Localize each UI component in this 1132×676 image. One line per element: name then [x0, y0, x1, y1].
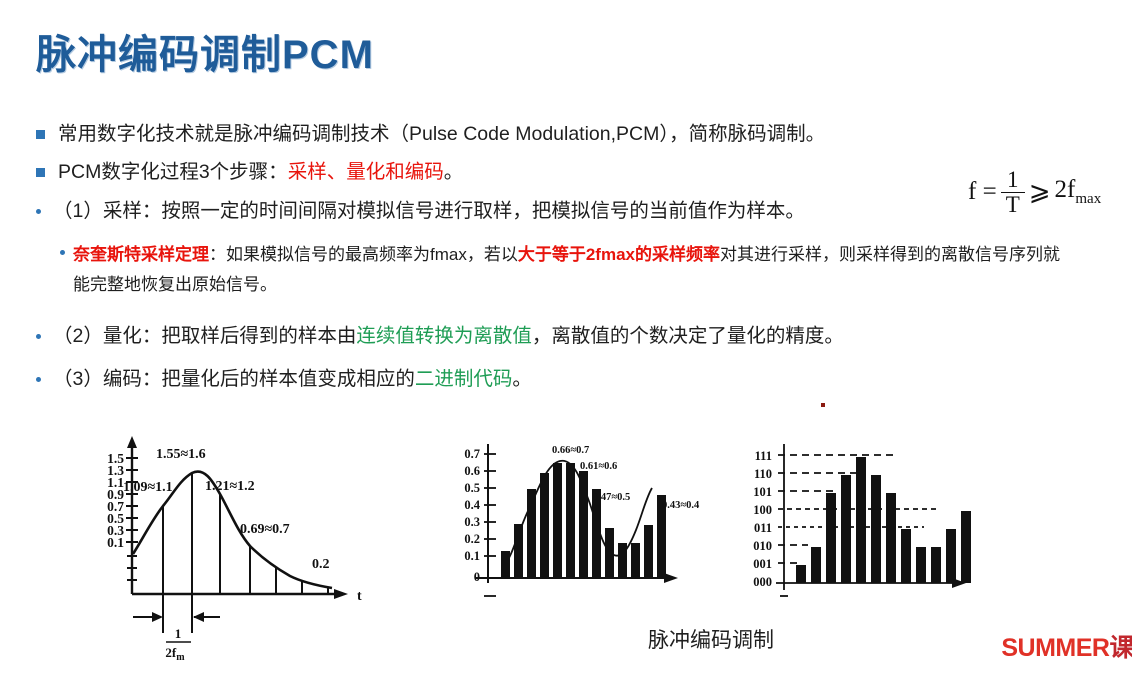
sample-annotations: 1.09≈1.1 1.55≈1.6 1.21≈1.2 0.69≈0.7 0.2: [123, 447, 330, 572]
bar: [605, 528, 614, 578]
bar: [501, 551, 510, 578]
bar: [644, 525, 653, 578]
y-tick-label: 110: [754, 467, 772, 481]
bar: [901, 529, 911, 583]
bullet-row-1: 常用数字化技术就是脉冲编码调制技术（Pulse Code Modulation,…: [36, 120, 825, 148]
bar-label: 0.66≈0.7: [552, 445, 589, 456]
bullet-row-3: （1）采样：按照一定的时间间隔对模拟信号进行取样，把模拟信号的当前值作为样本。: [36, 197, 805, 225]
y-tick-label: 100: [753, 503, 772, 517]
bullet-6-text: （3）编码：把量化后的样本值变成相应的二进制代码。: [53, 365, 532, 393]
y-tick-labels: 111 110 101 100 011 010 001 000: [753, 449, 772, 589]
y-tick-label: 101: [753, 485, 772, 499]
page-title: 脉冲编码调制PCM: [36, 22, 374, 80]
svg-text:1: 1: [175, 626, 182, 641]
bullet-2-text: PCM数字化过程3个步骤：采样、量化和编码。: [58, 158, 463, 186]
square-bullet-icon: [36, 168, 45, 177]
sample-label: 1.09≈1.1: [123, 480, 173, 495]
square-bullet-icon: [36, 130, 45, 139]
y-tick-label: 010: [753, 539, 772, 553]
y-tick-label: 0: [474, 570, 480, 584]
bar: [946, 529, 956, 583]
y-tick-label: 0.6: [464, 464, 480, 478]
bar: [961, 511, 971, 583]
bar: [856, 457, 866, 583]
bullet-3-text: （1）采样：按照一定的时间间隔对模拟信号进行取样，把模拟信号的当前值作为样本。: [53, 197, 805, 225]
encoded-bars: [796, 457, 971, 583]
bar-label: 0.61≈0.6: [580, 461, 617, 472]
sample-label: 0.2: [312, 557, 330, 572]
bar: [886, 493, 896, 583]
bar: [796, 565, 806, 583]
bar: [540, 473, 549, 578]
nyquist-formula: f = 1 T ⩾ 2fmax: [968, 168, 1101, 217]
bar: [618, 543, 627, 578]
figure-caption: 脉冲编码调制: [648, 624, 774, 654]
y-tick-label: 0.4: [464, 498, 480, 512]
y-tick-label: 000: [753, 575, 772, 589]
y-tick-label: 0.3: [464, 515, 480, 529]
dot-bullet-icon: [36, 377, 41, 382]
figure-encoding: 111 110 101 100 011 010 001 000: [726, 438, 991, 603]
x-axis-label: t: [357, 589, 362, 604]
dot-bullet-icon: [60, 250, 65, 255]
analog-envelope-curve: [503, 461, 652, 567]
y-tick-label: 0.1: [107, 535, 124, 550]
formula-denominator: T: [1001, 192, 1025, 217]
formula-relation: ⩾: [1029, 177, 1051, 207]
slide-canvas: 脉冲编码调制PCM 常用数字化技术就是脉冲编码调制技术（Pulse Code M…: [0, 0, 1132, 676]
bar: [566, 463, 575, 578]
y-tick-label: 111: [755, 449, 772, 463]
bullet-5-text: （2）量化：把取样后得到的样本由连续值转换为离散值，离散值的个数决定了量化的精度…: [53, 322, 844, 350]
sample-label: 1.55≈1.6: [156, 447, 206, 462]
bar: [826, 493, 836, 583]
formula-fraction: 1 T: [1001, 168, 1025, 217]
bullet-1-text: 常用数字化技术就是脉冲编码调制技术（Pulse Code Modulation,…: [58, 120, 825, 148]
bar: [916, 547, 926, 583]
y-axis-ticks: [484, 454, 496, 596]
formula-lhs: f =: [968, 178, 997, 206]
bar: [631, 543, 640, 578]
bullet-row-5: （2）量化：把取样后得到的样本由连续值转换为离散值，离散值的个数决定了量化的精度…: [36, 322, 844, 350]
bar: [514, 524, 523, 578]
bar: [841, 475, 851, 583]
logo-cn-char: 课: [1109, 634, 1132, 662]
bullet-row-2: PCM数字化过程3个步骤：采样、量化和编码。: [36, 158, 463, 186]
dot-bullet-icon: [36, 334, 41, 339]
bullet-4-text: 奈奎斯特采样定理：如果模拟信号的最高频率为fmax，若以大于等于2fmax的采样…: [73, 240, 1060, 300]
y-tick-label: 011: [754, 521, 772, 535]
highlight-green-continuous: 连续值转换为离散值: [356, 325, 532, 347]
svg-text:2fm: 2fm: [165, 645, 185, 663]
interval-label: 1 2fm: [165, 626, 191, 663]
highlight-green-binary: 二进制代码: [415, 368, 513, 390]
figure-quantizing: 0.7 0.6 0.5 0.4 0.3 0.2 0.1 0: [440, 438, 710, 603]
bar-label: 0.47≈0.5: [593, 492, 630, 503]
y-tick-label: 0.7: [464, 447, 480, 461]
brand-logo: SUMMER课: [1001, 628, 1132, 664]
formula-rhs: 2fmax: [1055, 176, 1102, 208]
bar: [527, 489, 536, 578]
highlight-red-steps: 采样、量化和编码: [288, 161, 444, 183]
logo-text: SUMMER: [1001, 634, 1109, 662]
sample-label: 1.21≈1.2: [205, 479, 255, 494]
y-tick-labels: 0.7 0.6 0.5 0.4 0.3 0.2 0.1 0: [464, 447, 480, 584]
bar-label: 0.43≈0.4: [662, 500, 700, 511]
bullet-row-6: （3）编码：把量化后的样本值变成相应的二进制代码。: [36, 365, 532, 393]
highlight-nyquist-theorem: 奈奎斯特采样定理: [73, 245, 209, 264]
formula-numerator: 1: [1002, 168, 1024, 192]
bar: [871, 475, 881, 583]
y-tick-label: 0.1: [464, 549, 480, 563]
bar: [931, 547, 941, 583]
sample-label: 0.69≈0.7: [240, 522, 290, 537]
stray-red-dot: [821, 403, 825, 407]
y-tick-label: 001: [753, 557, 772, 571]
bar: [553, 463, 562, 578]
y-tick-label: 0.2: [464, 532, 480, 546]
y-tick-label: 0.5: [464, 481, 480, 495]
bullet-row-4-nested: 奈奎斯特采样定理：如果模拟信号的最高频率为fmax，若以大于等于2fmax的采样…: [60, 240, 1060, 300]
y-tick-labels: 1.5 1.3 1.1 0.9 0.7 0.5 0.3 0.1: [107, 451, 124, 550]
bar: [811, 547, 821, 583]
dot-bullet-icon: [36, 209, 41, 214]
highlight-sampling-rate: 大于等于2fmax的采样频率: [518, 245, 720, 264]
figure-sampling: 1.5 1.3 1.1 0.9 0.7 0.5 0.3 0.1: [80, 428, 380, 663]
quantized-bars: [501, 463, 666, 578]
bar: [579, 471, 588, 578]
